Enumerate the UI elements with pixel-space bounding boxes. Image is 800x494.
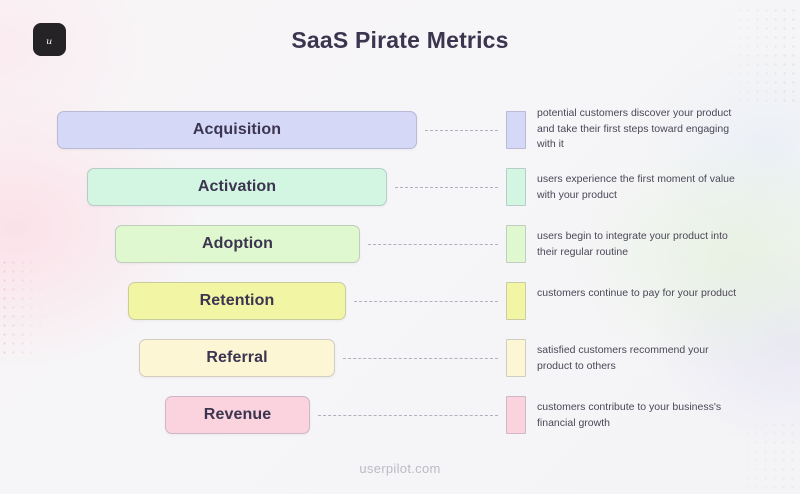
stage-description: satisfied customers recommend your produ… <box>537 343 742 374</box>
stage-color-swatch <box>506 111 526 149</box>
connector-line <box>343 358 498 359</box>
funnel-stage-label: Revenue <box>204 406 271 424</box>
funnel-stage-label: Retention <box>200 292 275 310</box>
funnel-stage-row: Adoptionusers begin to integrate your pr… <box>0 225 800 269</box>
stage-color-swatch <box>506 339 526 377</box>
funnel-stage-row: Acquisitionpotential customers discover … <box>0 111 800 155</box>
stage-description: users experience the first moment of val… <box>537 172 742 203</box>
funnel-stage-bar[interactable]: Retention <box>128 282 346 320</box>
funnel-stage-bar[interactable]: Adoption <box>115 225 360 263</box>
page-title: SaaS Pirate Metrics <box>0 27 800 54</box>
funnel-stage-row: Activationusers experience the first mom… <box>0 168 800 212</box>
footer-watermark: userpilot.com <box>0 461 800 476</box>
funnel-stage-label: Adoption <box>202 235 273 253</box>
funnel-stage-bar[interactable]: Acquisition <box>57 111 417 149</box>
connector-line <box>318 415 498 416</box>
stage-description: customers contribute to your business's … <box>537 400 742 431</box>
stage-color-swatch <box>506 225 526 263</box>
funnel-stage-label: Referral <box>206 349 267 367</box>
connector-line <box>425 130 498 131</box>
stage-description: potential customers discover your produc… <box>537 106 742 153</box>
funnel-stage-row: Revenuecustomers contribute to your busi… <box>0 396 800 440</box>
funnel-stage-row: Retentioncustomers continue to pay for y… <box>0 282 800 326</box>
funnel-stage-label: Acquisition <box>193 121 281 139</box>
funnel-stage-bar[interactable]: Activation <box>87 168 387 206</box>
stage-description: users begin to integrate your product in… <box>537 229 742 260</box>
funnel-stage-bar[interactable]: Revenue <box>165 396 310 434</box>
funnel-stage-row: Referralsatisfied customers recommend yo… <box>0 339 800 383</box>
connector-line <box>395 187 498 188</box>
stage-color-swatch <box>506 282 526 320</box>
funnel-stage-bar[interactable]: Referral <box>139 339 335 377</box>
infographic-canvas: ᵤ SaaS Pirate Metrics Acquisitionpotenti… <box>0 0 800 494</box>
connector-line <box>354 301 498 302</box>
stage-color-swatch <box>506 168 526 206</box>
stage-color-swatch <box>506 396 526 434</box>
connector-line <box>368 244 498 245</box>
funnel-stage-label: Activation <box>198 178 276 196</box>
dot-grid-decoration-top-right <box>708 6 800 102</box>
stage-description: customers continue to pay for your produ… <box>537 286 742 302</box>
